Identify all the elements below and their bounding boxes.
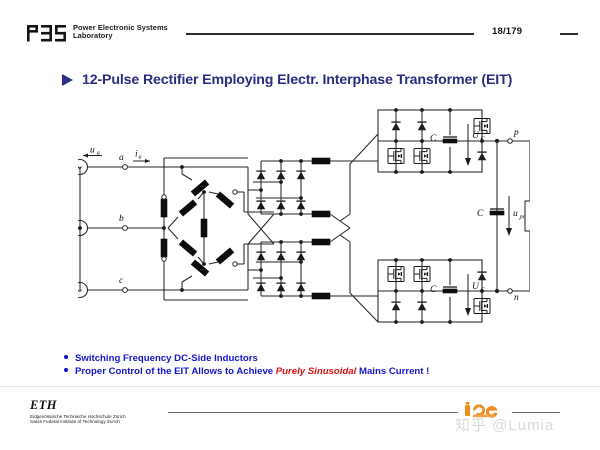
svg-text:b: b [119, 214, 124, 224]
bullet-post-1: Mains Current ! [356, 366, 429, 377]
page-title-text: 12-Pulse Rectifier Employing Electr. Int… [82, 72, 512, 88]
schematic-svg: .w{stroke:#262626;stroke-width:1.05;fill… [78, 104, 530, 336]
svg-text:C: C [430, 134, 437, 144]
svg-text:c: c [119, 276, 124, 286]
slide-canvas: Power Electronic Systems Laboratory 18/1… [0, 0, 600, 450]
page-title: 12-Pulse Rectifier Employing Electr. Int… [62, 72, 512, 88]
svg-text:a: a [139, 154, 142, 161]
bullet-text-1: Proper Control of the EIT Allows to Achi… [75, 366, 429, 377]
svg-text:n: n [514, 293, 519, 303]
bullet-dot-icon [64, 355, 68, 359]
svg-text:a: a [119, 153, 124, 163]
pes-logo-icon [27, 25, 69, 42]
slide-header: Power Electronic Systems Laboratory 18/1… [0, 0, 600, 52]
page-number: 18/179 [492, 26, 522, 37]
footer-divider [0, 386, 600, 387]
bullet-dot-icon [64, 368, 68, 372]
svg-text:u: u [513, 209, 518, 219]
footer-divider-middle [168, 412, 458, 413]
pes-lab-name: Power Electronic Systems Laboratory [73, 24, 183, 41]
header-divider-line [186, 33, 474, 35]
bullet-highlight-1: Purely Sinusoidal [276, 366, 357, 377]
svg-text:u: u [90, 146, 95, 156]
circuit-schematic: .w{stroke:#262626;stroke-width:1.05;fill… [78, 104, 530, 336]
footer-divider-right [512, 412, 560, 413]
watermark-text: 知乎 @Lumia [455, 414, 554, 435]
pes-lab-line2: Laboratory [73, 32, 183, 40]
header-divider-line-right [560, 33, 578, 35]
svg-text:U: U [472, 131, 480, 141]
list-item: Switching Frequency DC-Side Inductors [64, 353, 429, 364]
svg-text:U: U [472, 282, 480, 292]
bullet-list: Switching Frequency DC-Side Inductors Pr… [64, 353, 429, 379]
eth-logo: ETH Eidgenössische Technische Hochschule… [30, 398, 158, 425]
bullet-pre-0: Switching Frequency DC-Side Inductors [75, 353, 258, 364]
svg-text:a: a [97, 150, 100, 157]
eth-subtitle: Eidgenössische Technische Hochschule Zür… [30, 414, 158, 425]
eth-wordmark: ETH [30, 398, 158, 413]
bullet-text-0: Switching Frequency DC-Side Inductors [75, 353, 258, 364]
bullet-pre-1: Proper Control of the EIT Allows to Achi… [75, 366, 276, 377]
svg-text:C: C [430, 285, 437, 295]
eth-subtitle-en: Swiss Federal Institute of Technology Zu… [30, 419, 158, 424]
triangle-right-icon [62, 74, 73, 86]
list-item: Proper Control of the EIT Allows to Achi… [64, 366, 429, 377]
svg-text:p: p [513, 128, 519, 138]
svg-text:C: C [477, 209, 484, 219]
